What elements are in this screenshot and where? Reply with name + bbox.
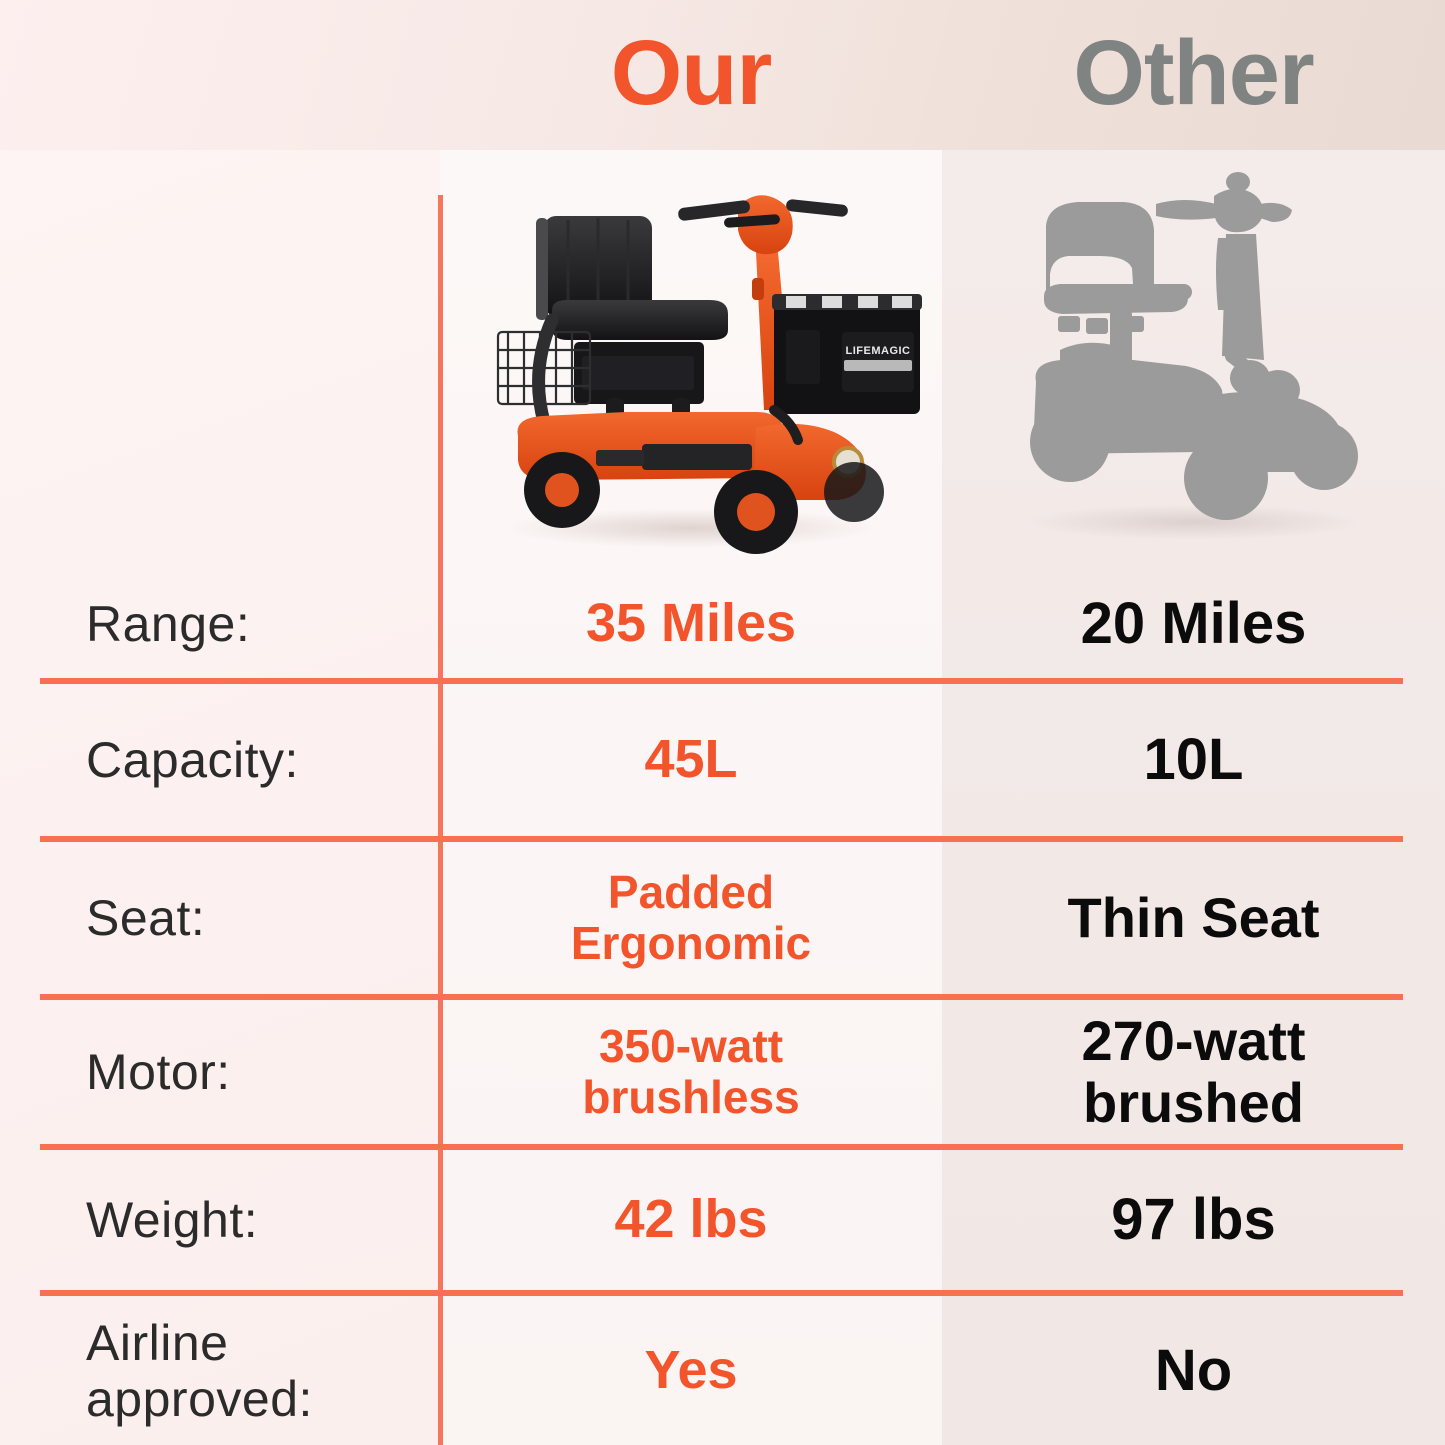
row-divider bbox=[40, 678, 1403, 684]
other-value-cell: 20 Miles bbox=[942, 570, 1445, 678]
our-value-text: Yes bbox=[644, 1341, 737, 1400]
feature-label-text: Seat: bbox=[86, 890, 205, 946]
feature-label-cell: Airlineapproved: bbox=[0, 1296, 440, 1445]
table-row: Range:35 Miles20 Miles bbox=[0, 570, 1445, 678]
table-row: Capacity:45L10L bbox=[0, 684, 1445, 836]
table-row: Airlineapproved:YesNo bbox=[0, 1296, 1445, 1445]
table-row: Weight:42 lbs97 lbs bbox=[0, 1150, 1445, 1290]
feature-label-cell: Weight: bbox=[0, 1150, 440, 1290]
our-value-cell: 42 lbs bbox=[440, 1150, 942, 1290]
other-value-cell: Thin Seat bbox=[942, 842, 1445, 994]
other-value-text: 270-wattbrushed bbox=[1081, 1010, 1305, 1133]
other-value-text: 10L bbox=[1144, 728, 1244, 792]
feature-label-cell: Range: bbox=[0, 570, 440, 678]
comparison-infographic: Our Other bbox=[0, 0, 1445, 1445]
feature-label-text: Capacity: bbox=[86, 732, 299, 788]
other-value-text: No bbox=[1155, 1339, 1232, 1403]
feature-label-cell: Motor: bbox=[0, 1000, 440, 1144]
feature-label-cell: Capacity: bbox=[0, 684, 440, 836]
feature-label-cell: Seat: bbox=[0, 842, 440, 994]
our-value-text: 350-wattbrushless bbox=[582, 1021, 799, 1122]
header-titles: Our Other bbox=[0, 0, 1445, 150]
other-value-text: 97 lbs bbox=[1111, 1188, 1275, 1252]
bag-brand-text: LIFEMAGIC bbox=[846, 345, 911, 357]
other-value-cell: 270-wattbrushed bbox=[942, 1000, 1445, 1144]
other-value-text: Thin Seat bbox=[1067, 887, 1319, 949]
gray-competitor-scooter-silhouette-icon bbox=[974, 160, 1414, 560]
row-divider bbox=[40, 1290, 1403, 1296]
other-value-cell: 10L bbox=[942, 684, 1445, 836]
column-header-our: Our bbox=[440, 18, 942, 128]
row-divider bbox=[40, 1144, 1403, 1150]
our-value-cell: 45L bbox=[440, 684, 942, 836]
row-divider bbox=[40, 994, 1403, 1000]
other-value-text: 20 Miles bbox=[1081, 592, 1307, 656]
our-value-text: 35 Miles bbox=[586, 594, 796, 653]
our-product-image: LIFEMAGIC bbox=[440, 150, 942, 570]
our-value-text: PaddedErgonomic bbox=[571, 867, 811, 968]
feature-label-text: Range: bbox=[86, 596, 250, 652]
feature-label-text: Motor: bbox=[86, 1044, 231, 1100]
our-value-cell: 350-wattbrushless bbox=[440, 1000, 942, 1144]
table-row: Seat:PaddedErgonomicThin Seat bbox=[0, 842, 1445, 994]
our-value-cell: PaddedErgonomic bbox=[440, 842, 942, 994]
other-value-cell: No bbox=[942, 1296, 1445, 1445]
orange-mobility-scooter-icon: LIFEMAGIC bbox=[456, 160, 926, 560]
other-product-image bbox=[942, 150, 1445, 570]
our-value-cell: 35 Miles bbox=[440, 570, 942, 678]
other-value-cell: 97 lbs bbox=[942, 1150, 1445, 1290]
our-value-text: 45L bbox=[644, 730, 737, 789]
our-value-text: 42 lbs bbox=[614, 1190, 767, 1249]
row-divider bbox=[40, 836, 1403, 842]
feature-label-text: Airlineapproved: bbox=[86, 1315, 313, 1427]
our-value-cell: Yes bbox=[440, 1296, 942, 1445]
table-row: Motor:350-wattbrushless270-wattbrushed bbox=[0, 1000, 1445, 1144]
feature-label-text: Weight: bbox=[86, 1192, 258, 1248]
column-header-other: Other bbox=[942, 18, 1445, 128]
